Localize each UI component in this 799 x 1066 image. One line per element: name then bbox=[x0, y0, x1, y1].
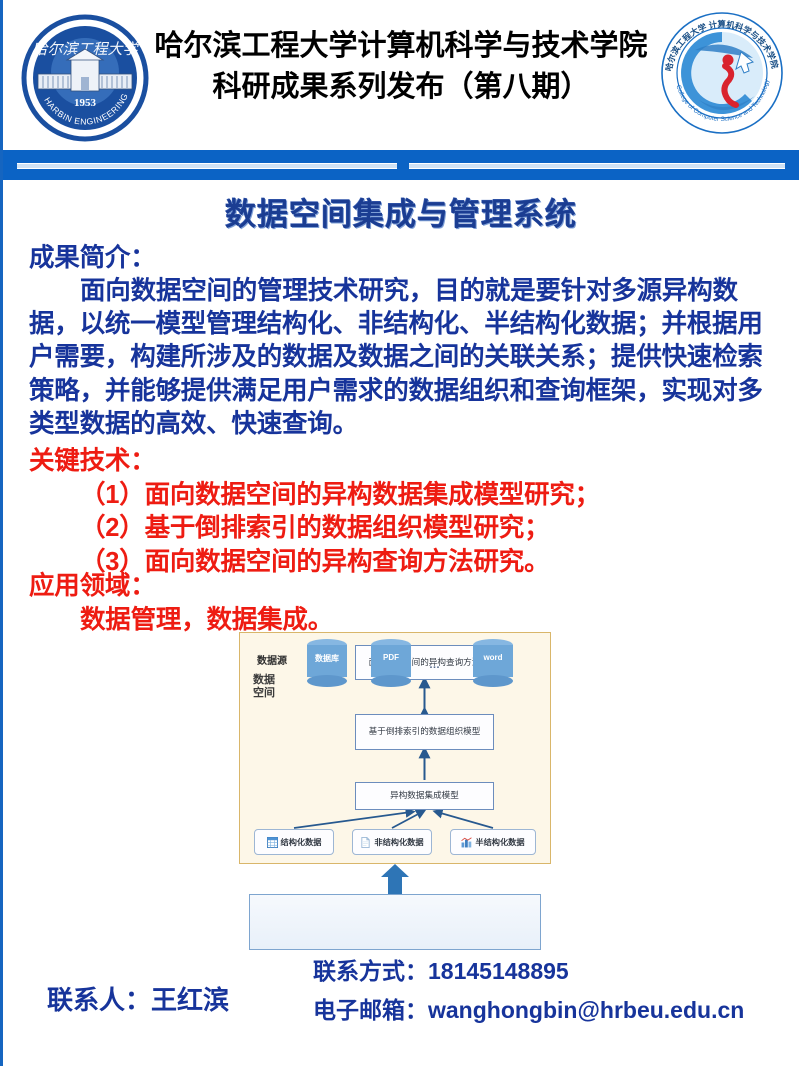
key-tech-heading: 关键技术： bbox=[29, 447, 156, 475]
contact-person: 联系人：王红滨 bbox=[47, 980, 229, 1017]
header-divider-band bbox=[3, 150, 799, 180]
seal-year: 1953 bbox=[74, 97, 97, 109]
datasource-cylinder-database: 数据库 bbox=[307, 639, 347, 681]
diagram-leaf-structured: 结构化数据 bbox=[254, 829, 334, 855]
intro-heading: 成果简介： bbox=[29, 244, 156, 272]
table-grid-icon bbox=[267, 837, 278, 848]
leaf-label: 非结构化数据 bbox=[374, 836, 423, 848]
key-tech-item-1: （1）面向数据空间的异构数据集成模型研究； bbox=[29, 479, 783, 513]
datasource-cylinder-word: word bbox=[473, 639, 513, 681]
intro-body: 面向数据空间的管理技术研究，目的就是要针对多源异构数据，以统一模型管理结构化、非… bbox=[29, 275, 783, 441]
band-rule-left bbox=[17, 163, 397, 169]
poster-title: 数据空间集成与管理系统 bbox=[3, 189, 799, 234]
contact-details: 联系方式：18145148895 电子邮箱：wanghongbin@hrbeu.… bbox=[313, 952, 744, 1030]
poster-header: 哈尔滨工程大学 1953 bbox=[3, 0, 799, 143]
college-of-computer-science-seal-icon: 哈尔滨工程大学 计算机科学与技术学院 College of Computer S… bbox=[657, 8, 787, 138]
intro-section: 成果简介： 面向数据空间的管理技术研究，目的就是要针对多源异构数据，以统一模型管… bbox=[29, 242, 783, 441]
band-rule-right bbox=[409, 163, 785, 169]
datasource-label: 数据源 bbox=[257, 652, 287, 667]
harbin-engineering-university-seal-icon: 哈尔滨工程大学 1953 bbox=[21, 14, 149, 142]
contact-phone: 联系方式：18145148895 bbox=[313, 952, 744, 991]
poster-content: 数据空间集成与管理系统 成果简介： 面向数据空间的管理技术研究，目的就是要针对多… bbox=[3, 180, 799, 1066]
dataflow-up-arrow-icon bbox=[381, 864, 409, 894]
leaf-label: 结构化数据 bbox=[281, 836, 322, 848]
diagram-node-organization-model: 基于倒排索引的数据组织模型 bbox=[355, 714, 494, 750]
architecture-diagram: 数据空间 面向数据空间的异构查询方法 基于倒排索引的数据组织模型 异构数据集成模… bbox=[239, 632, 551, 952]
header-title-line-1: 哈尔滨工程大学计算机科学与技术学院 bbox=[153, 26, 649, 67]
document-page-icon bbox=[360, 837, 371, 848]
header-title-line-2: 科研成果系列发布（第八期） bbox=[153, 67, 649, 108]
contact-email: 电子邮箱：wanghongbin@hrbeu.edu.cn bbox=[313, 991, 744, 1030]
datasource-cylinder-pdf: PDF bbox=[371, 639, 411, 681]
poster-page: 哈尔滨工程大学 1953 bbox=[0, 0, 799, 1066]
key-tech-section: 关键技术： （1）面向数据空间的异构数据集成模型研究； （2）基于倒排索引的数据… bbox=[29, 445, 783, 580]
diagram-node-integration-model: 异构数据集成模型 bbox=[355, 782, 494, 810]
datasource-frame bbox=[249, 894, 541, 950]
cylinder-label: 数据库 bbox=[307, 653, 347, 664]
leaf-label: 半结构化数据 bbox=[475, 836, 524, 848]
application-section: 应用领域： 数据管理，数据集成。 bbox=[29, 570, 783, 637]
diagram-leaf-semistructured: 半结构化数据 bbox=[450, 829, 536, 855]
key-tech-item-2: （2）基于倒排索引的数据组织模型研究； bbox=[29, 512, 783, 546]
cylinder-label: PDF bbox=[371, 653, 411, 662]
application-heading: 应用领域： bbox=[29, 572, 156, 600]
chart-blocks-icon bbox=[461, 837, 472, 848]
header-title-block: 哈尔滨工程大学计算机科学与技术学院 科研成果系列发布（第八期） bbox=[153, 26, 649, 108]
datasource-ellipsis: … bbox=[429, 659, 441, 671]
cylinder-label: word bbox=[473, 653, 513, 662]
diagram-leaf-unstructured: 非结构化数据 bbox=[352, 829, 432, 855]
